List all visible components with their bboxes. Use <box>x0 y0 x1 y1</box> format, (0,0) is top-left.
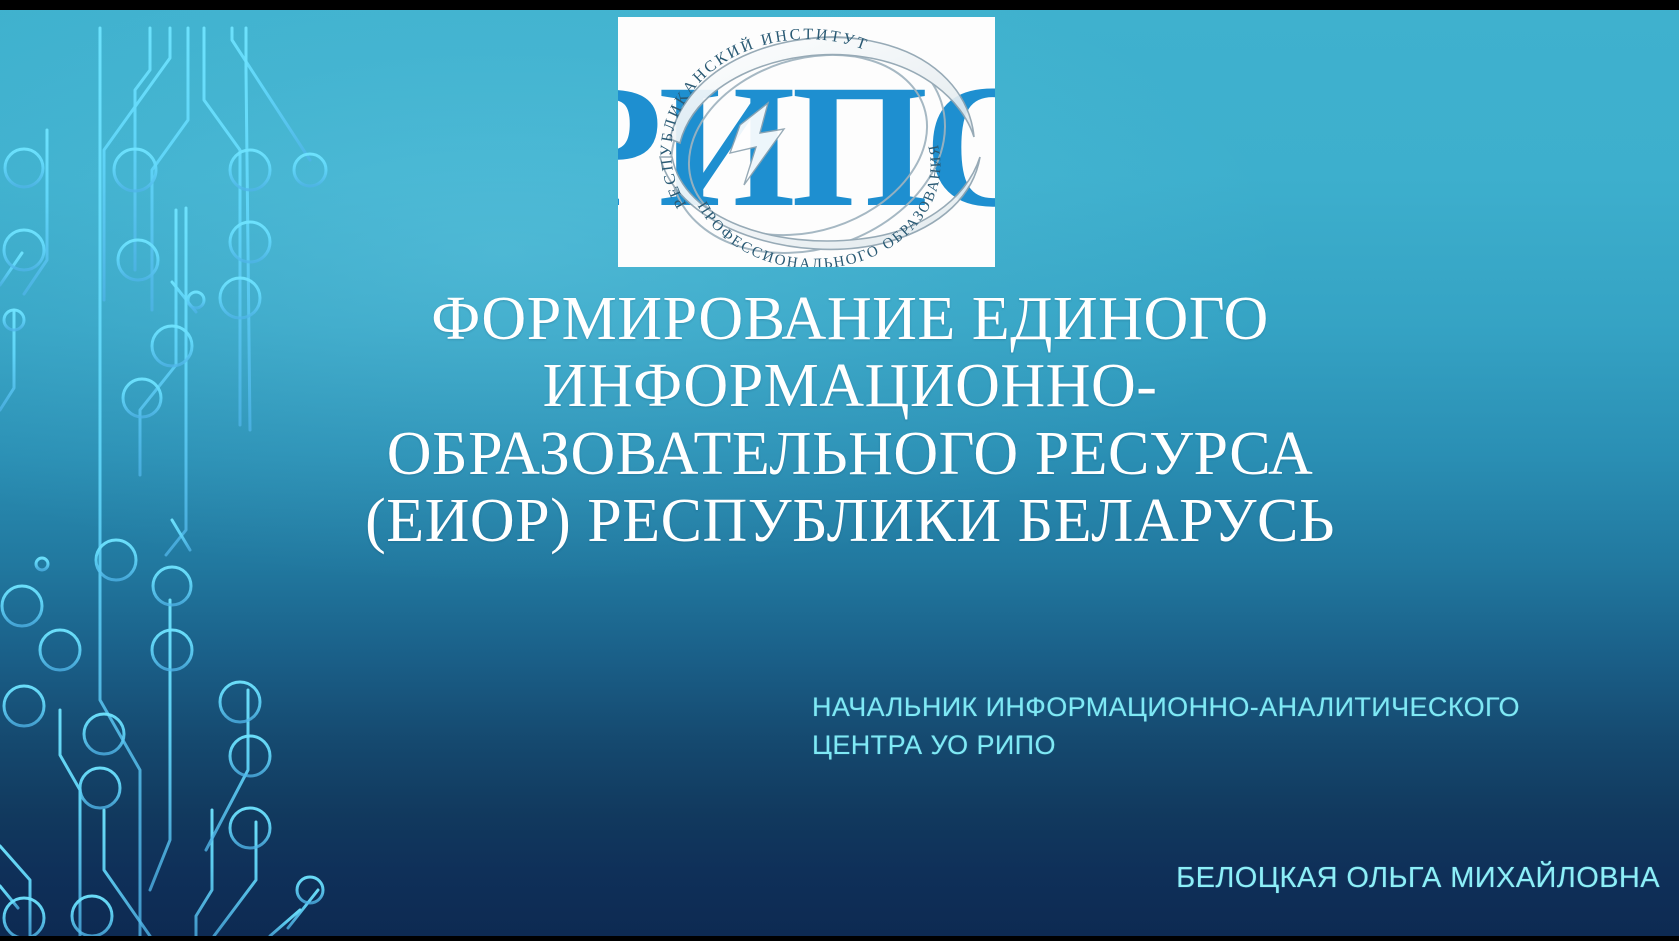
letterbox-bar-top <box>0 0 1679 10</box>
presentation-slide: РИПО РЕСПУБЛИКАНСКИЙ ИНСТИТУТ ПРОФЕССИОН… <box>0 0 1679 941</box>
slide-title: ФОРМИРОВАНИЕ ЕДИНОГО ИНФОРМАЦИОННО- ОБРА… <box>290 286 1410 555</box>
ripo-logo-graphic: РИПО РЕСПУБЛИКАНСКИЙ ИНСТИТУТ ПРОФЕССИОН… <box>618 17 995 267</box>
slide-subtitle: НАЧАЛЬНИК ИНФОРМАЦИОННО-АНАЛИТИЧЕСКОГО Ц… <box>812 688 1572 765</box>
slide-author: БЕЛОЦКАЯ ОЛЬГА МИХАЙЛОВНА <box>700 862 1660 895</box>
letterbox-bar-bottom <box>0 936 1679 941</box>
ripo-logo: РИПО РЕСПУБЛИКАНСКИЙ ИНСТИТУТ ПРОФЕССИОН… <box>618 17 995 267</box>
